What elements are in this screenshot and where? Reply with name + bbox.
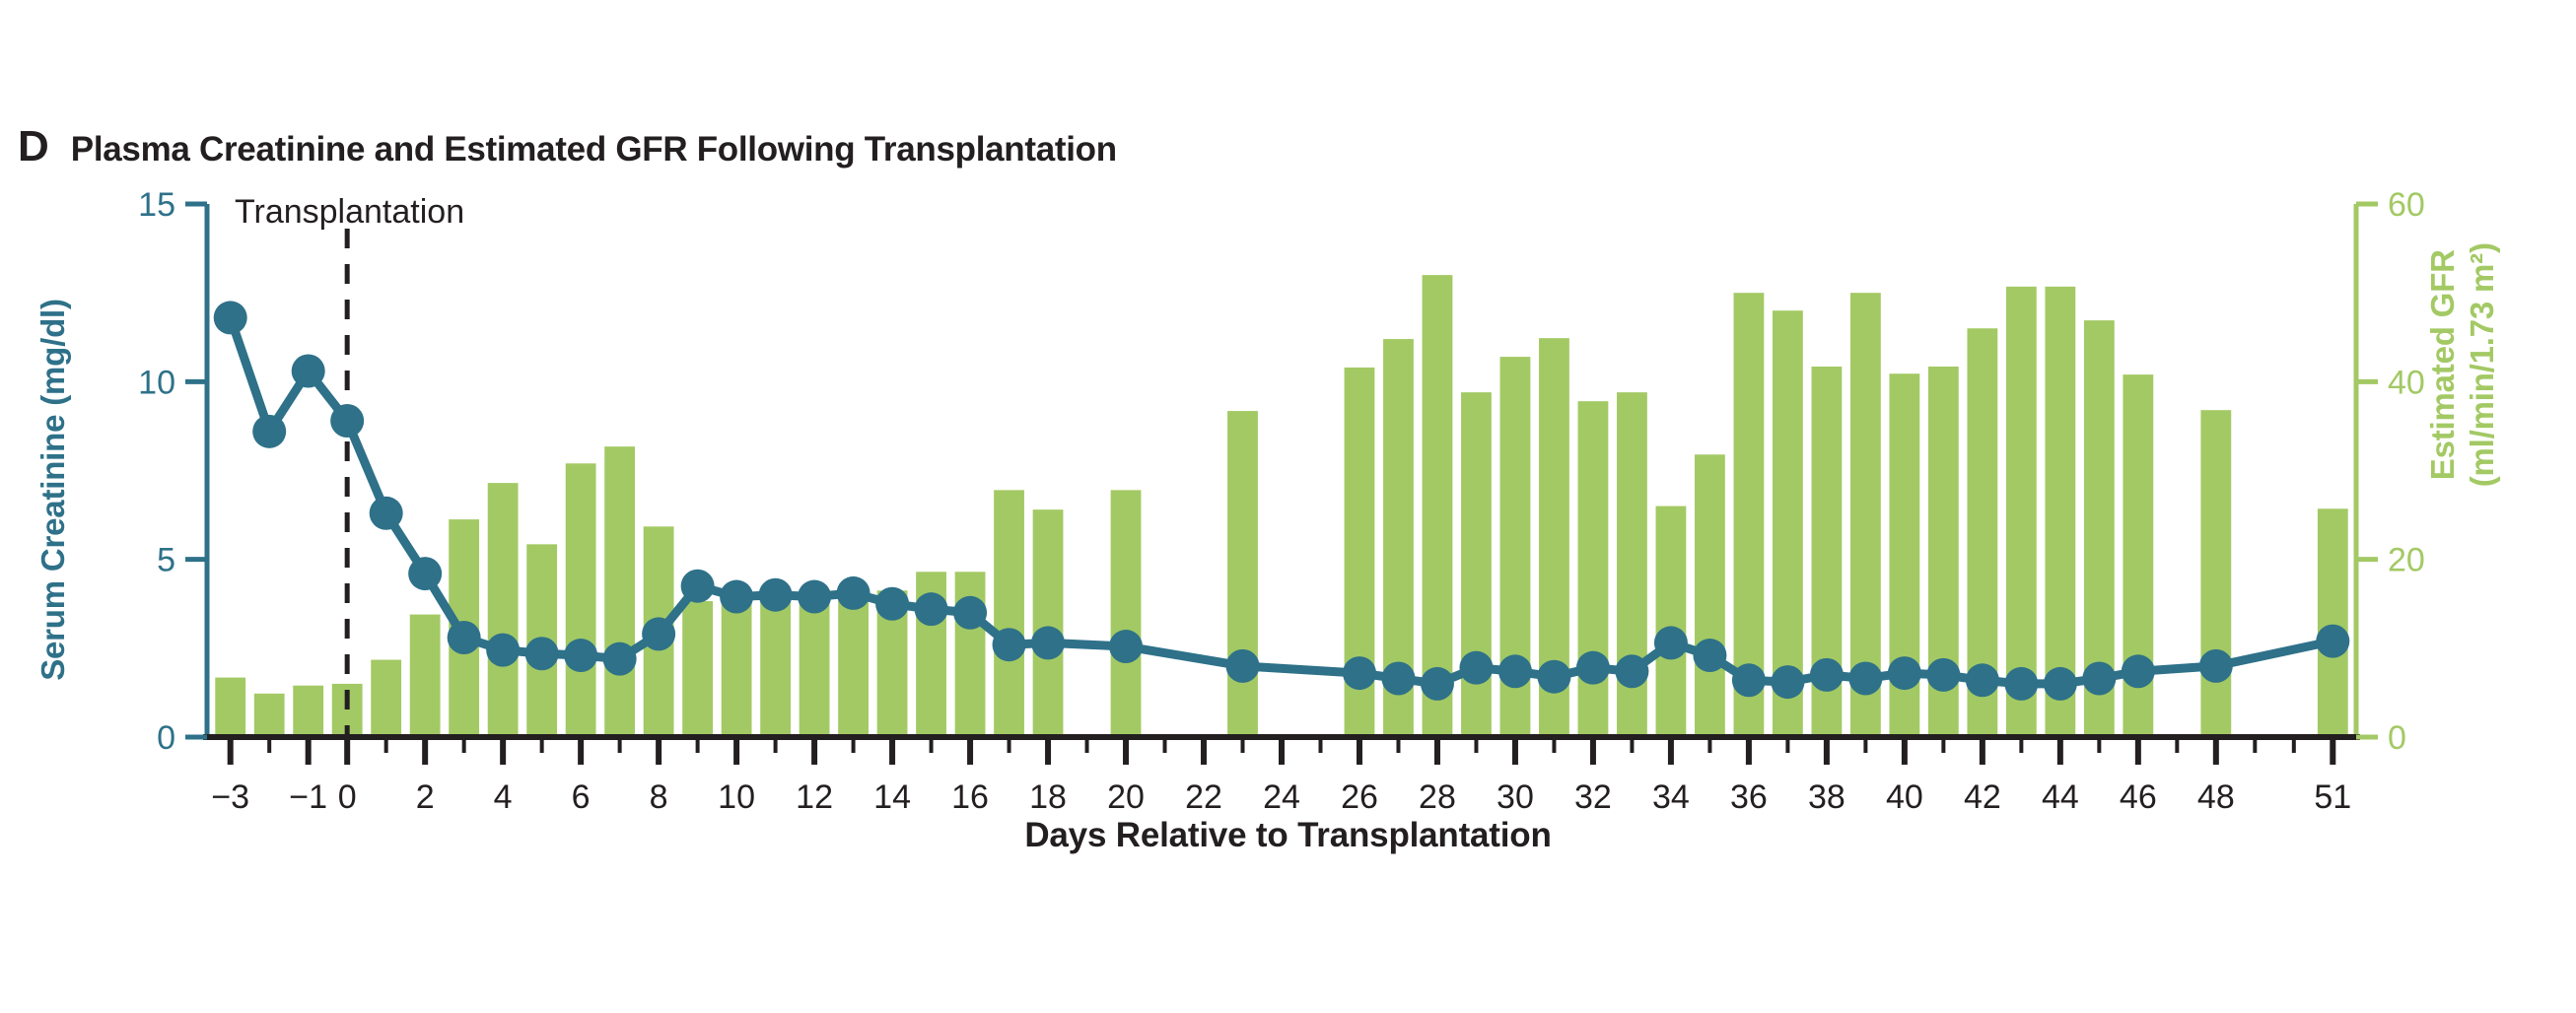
x-axis-tick-label: 10: [718, 778, 755, 816]
creatinine-data-point: [408, 557, 442, 590]
creatinine-data-point: [1109, 630, 1143, 663]
y-axis-right-tick-label: 40: [2388, 364, 2425, 401]
y-axis-left-title: Serum Creatinine (mg/dl): [35, 263, 72, 716]
y-axis-right-title: Estimated GFR (ml/min/1.73 m²): [2423, 187, 2503, 542]
gfr-bar: [722, 599, 752, 737]
y-axis-left-tick-label: 10: [138, 364, 175, 401]
creatinine-data-point: [1848, 661, 1882, 695]
gfr-bar: [215, 678, 245, 737]
x-axis-tick-label: 44: [2042, 778, 2079, 816]
creatinine-data-point: [2316, 625, 2349, 658]
creatinine-data-point: [681, 570, 715, 603]
gfr-bar: [293, 686, 323, 737]
x-axis-tick-label: 28: [1419, 778, 1456, 816]
y-axis-right-tick-label: 0: [2388, 719, 2406, 757]
creatinine-data-point: [1654, 626, 1688, 659]
creatinine-data-point: [448, 621, 481, 654]
gfr-bar: [1461, 392, 1492, 737]
creatinine-data-point: [993, 628, 1026, 661]
creatinine-data-point: [1537, 660, 1570, 694]
creatinine-data-point: [214, 301, 247, 334]
gfr-bar: [410, 615, 441, 737]
creatinine-data-point: [330, 404, 364, 438]
creatinine-data-point: [1888, 656, 1921, 690]
creatinine-data-point: [1498, 654, 1532, 688]
x-axis-tick-label: 6: [572, 778, 591, 816]
x-axis-tick-label: 8: [650, 778, 668, 816]
creatinine-data-point: [1615, 654, 1648, 688]
creatinine-data-point: [759, 578, 793, 612]
creatinine-data-point: [1343, 656, 1376, 690]
y-axis-right-title-line1: Estimated GFR: [2424, 249, 2461, 480]
creatinine-data-point: [603, 642, 637, 676]
x-axis-tick-label: 12: [796, 778, 833, 816]
x-axis-tick-label: 24: [1263, 778, 1300, 816]
gfr-bar: [1227, 411, 1258, 737]
creatinine-data-point: [1810, 658, 1844, 692]
x-axis-tick-label: 36: [1730, 778, 1768, 816]
gfr-bar: [682, 601, 713, 737]
axes-layer: 0510150204060−3−102468101214161820222426…: [138, 186, 2425, 816]
creatinine-data-point: [2044, 667, 2077, 701]
x-axis-tick-label: 0: [338, 778, 357, 816]
gfr-bar: [371, 660, 401, 737]
x-axis-tick-label: 42: [1964, 778, 2001, 816]
creatinine-data-point: [2122, 654, 2155, 688]
gfr-bar: [1656, 506, 1687, 737]
creatinine-data-point: [953, 596, 987, 630]
gfr-bar: [994, 490, 1024, 737]
x-axis-tick-label: 20: [1107, 778, 1145, 816]
gfr-bar: [488, 483, 519, 737]
gfr-bar: [838, 595, 869, 737]
creatinine-data-point: [720, 580, 753, 614]
creatinine-data-point: [2004, 667, 2038, 701]
x-axis-tick-label: 40: [1886, 778, 1923, 816]
x-axis-tick-label: −3: [211, 778, 249, 816]
y-axis-left-tick-label: 15: [138, 186, 175, 224]
plot-canvas: 0510150204060−3−102468101214161820222426…: [0, 0, 2576, 1013]
gfr-bar: [2318, 508, 2348, 737]
creatinine-data-point: [1966, 663, 1999, 697]
gfr-bar: [566, 463, 596, 737]
creatinine-data-point: [252, 415, 286, 448]
creatinine-data-point: [1381, 661, 1415, 695]
gfr-bar: [1111, 490, 1142, 737]
x-axis-tick-label: 4: [494, 778, 513, 816]
x-axis-tick-label: 34: [1652, 778, 1690, 816]
x-axis-tick-label: 26: [1341, 778, 1378, 816]
creatinine-data-point: [2082, 661, 2116, 695]
gfr-bar: [760, 597, 791, 737]
x-axis-tick-label: −1: [289, 778, 327, 816]
x-axis-tick-label: 32: [1574, 778, 1612, 816]
creatinine-data-point: [1226, 649, 1260, 683]
creatinine-data-point: [525, 637, 559, 670]
creatinine-data-point: [875, 587, 909, 621]
gfr-bar: [254, 694, 285, 737]
creatinine-data-point: [370, 497, 403, 530]
creatinine-data-point: [486, 634, 520, 667]
creatinine-data-point: [915, 592, 948, 626]
gfr-bar: [1695, 454, 1725, 737]
x-axis-tick-label: 38: [1808, 778, 1845, 816]
creatinine-data-point: [1693, 639, 1726, 672]
x-axis-tick-label: 46: [2120, 778, 2157, 816]
creatinine-data-point: [798, 580, 831, 614]
x-axis-title: Days Relative to Transplantation: [0, 816, 2576, 855]
y-axis-left-tick-label: 5: [157, 542, 175, 579]
creatinine-data-point: [2199, 649, 2233, 683]
creatinine-data-point: [292, 355, 325, 388]
x-axis-tick-label: 22: [1185, 778, 1222, 816]
gfr-bar: [604, 446, 635, 737]
creatinine-data-point: [1031, 626, 1065, 659]
chart-figure: D Plasma Creatinine and Estimated GFR Fo…: [0, 0, 2576, 1013]
y-axis-left-tick-label: 0: [157, 719, 175, 757]
x-axis-tick-label: 14: [873, 778, 911, 816]
x-axis-tick-label: 16: [951, 778, 989, 816]
y-axis-right-title-line2: (ml/min/1.73 m²): [2463, 187, 2502, 542]
creatinine-data-point: [1421, 667, 1454, 701]
transplantation-annotation-label: Transplantation: [235, 193, 464, 232]
gfr-bar: [1033, 509, 1064, 737]
gfr-bar: [1578, 401, 1609, 737]
y-axis-right-tick-label: 20: [2388, 542, 2425, 579]
x-axis-tick-label: 51: [2314, 778, 2351, 816]
gfr-bar: [800, 596, 830, 737]
creatinine-data-point: [1926, 658, 1960, 692]
creatinine-data-point: [1771, 665, 1804, 699]
x-axis-tick-label: 18: [1029, 778, 1067, 816]
creatinine-data-point: [1459, 651, 1493, 685]
creatinine-data-point: [837, 576, 870, 610]
creatinine-data-point: [1732, 663, 1766, 697]
creatinine-data-point: [564, 639, 597, 672]
creatinine-data-point: [642, 617, 675, 650]
creatinine-data-point: [1576, 651, 1610, 685]
y-axis-right-tick-label: 60: [2388, 186, 2425, 224]
x-axis-tick-label: 48: [2197, 778, 2235, 816]
x-axis-tick-label: 30: [1497, 778, 1534, 816]
x-axis-tick-label: 2: [416, 778, 435, 816]
gfr-bar: [2200, 410, 2231, 737]
